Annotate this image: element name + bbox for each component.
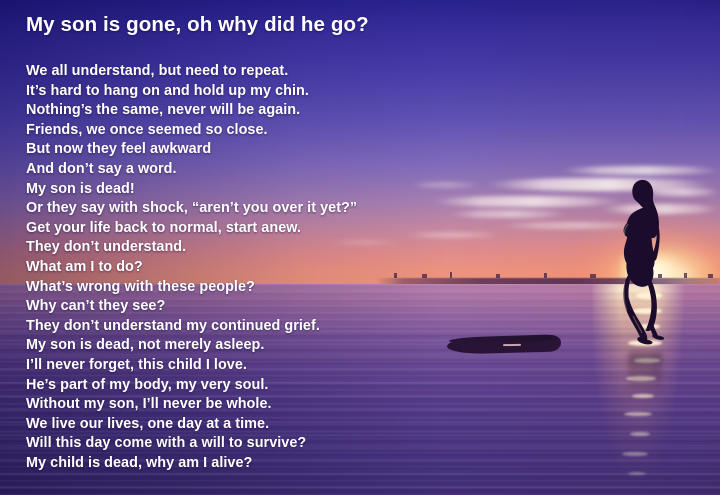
poem-line: They don’t understand.: [26, 238, 496, 258]
image-canvas: My son is gone, oh why did he go? We all…: [0, 0, 720, 495]
poem-line: But now they feel awkward: [26, 140, 496, 160]
poem-line: Friends, we once seemed so close.: [26, 121, 496, 141]
woman-silhouette: [600, 176, 690, 356]
woman-reflection: [628, 352, 662, 398]
poem-line: It’s hard to hang on and hold up my chin…: [26, 82, 496, 102]
poem-line: Why can’t they see?: [26, 297, 496, 317]
poem-line: We all understand, but need to repeat.: [26, 62, 496, 82]
poem-line: Nothing’s the same, never will be again.: [26, 101, 496, 121]
poem-line: Will this day come with a will to surviv…: [26, 434, 496, 454]
poem-line: Get your life back to normal, start anew…: [26, 219, 496, 239]
poem-line: And don’t say a word.: [26, 160, 496, 180]
poem-line: He’s part of my body, my very soul.: [26, 376, 496, 396]
boat-highlight: [503, 344, 521, 346]
poem-line: What’s wrong with these people?: [26, 278, 496, 298]
poem-line: Without my son, I’ll never be whole.: [26, 395, 496, 415]
poem-line: My child is dead, why am I alive?: [26, 454, 496, 474]
poem-line: Or they say with shock, “aren’t you over…: [26, 199, 496, 219]
poem-line: They don’t understand my continued grief…: [26, 317, 496, 337]
cloud-streak: [560, 166, 720, 175]
poem-line: My son is dead!: [26, 180, 496, 200]
poem-line: We live our lives, one day at a time.: [26, 415, 496, 435]
poem-line: What am I to do?: [26, 258, 496, 278]
poem-line: I’ll never forget, this child I love.: [26, 356, 496, 376]
page-title: My son is gone, oh why did he go?: [26, 13, 369, 37]
poem-line: My son is dead, not merely asleep.: [26, 336, 496, 356]
poem-body: We all understand, but need to repeat. I…: [26, 62, 496, 473]
